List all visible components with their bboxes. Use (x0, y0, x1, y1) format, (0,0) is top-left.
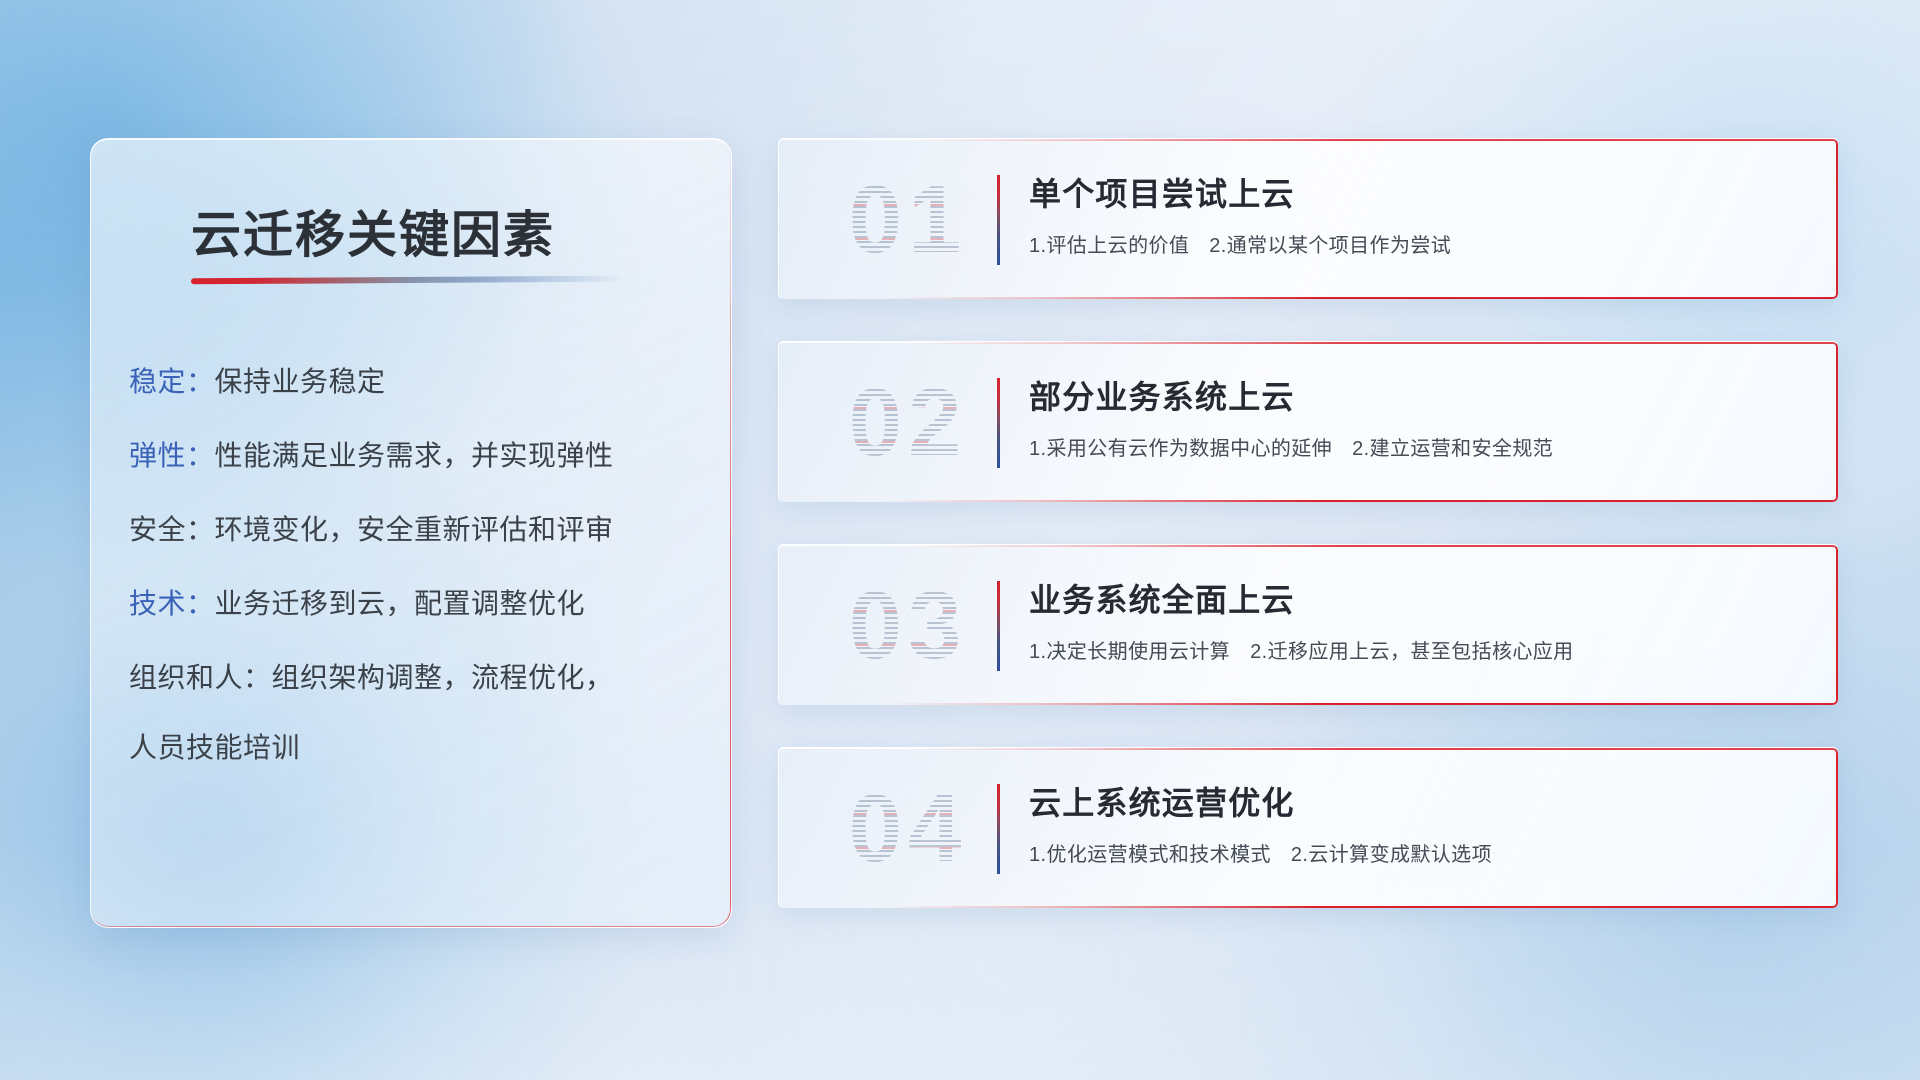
step-card-03[interactable]: 03 03 业务系统全面上云 1.决定长期使用云计算2.迁移应用上云，甚至包括核… (778, 544, 1838, 705)
step-divider-accent (997, 784, 1000, 874)
list-item-value: 性能满足业务需求，并实现弹性 (215, 440, 614, 471)
step-body: 部分业务系统上云 1.采用公有云作为数据中心的延伸2.建立运营和安全规范 (1029, 374, 1808, 464)
step-title: 云上系统运营优化 (1029, 780, 1808, 826)
step-title: 单个项目尝试上云 (1029, 171, 1808, 217)
list-item-label: 组织和人： (129, 662, 272, 693)
step-body: 单个项目尝试上云 1.评估上云的价值2.通常以某个项目作为尝试 (1029, 171, 1808, 261)
step-description: 1.优化运营模式和技术模式2.云计算变成默认选项 (1029, 840, 1808, 870)
page-title: 云迁移关键因素 (191, 195, 555, 267)
list-item: 弹性：性能满足业务需求，并实现弹性 (129, 419, 705, 493)
step-description-part-1: 1.决定长期使用云计算 (1029, 641, 1230, 663)
step-title: 业务系统全面上云 (1029, 577, 1808, 623)
list-item: 安全：环境变化，安全重新评估和评审 (129, 493, 705, 567)
list-item-value: 业务迁移到云，配置调整优化 (215, 588, 586, 619)
step-number-glow: 04 (813, 770, 1003, 888)
step-number-glow: 02 (813, 364, 1003, 482)
key-factors-card: 云迁移关键因素 稳定：保持业务稳定 弹性：性能满足业务需求，并实现弹性 安全：环… (90, 138, 732, 928)
list-item: 组织和人：组织架构调整，流程优化， (129, 641, 705, 715)
step-description: 1.采用公有云作为数据中心的延伸2.建立运营和安全规范 (1029, 434, 1808, 464)
list-item-label: 稳定： (129, 366, 215, 397)
step-divider-accent (997, 581, 1000, 671)
list-item-label: 安全： (129, 514, 215, 545)
list-item-label: 技术： (129, 588, 215, 619)
step-description-part-1: 1.评估上云的价值 (1029, 235, 1189, 257)
step-card-02[interactable]: 02 02 部分业务系统上云 1.采用公有云作为数据中心的延伸2.建立运营和安全… (778, 341, 1838, 502)
step-number-glow: 03 (813, 567, 1003, 685)
list-item-value: 环境变化，安全重新评估和评审 (215, 514, 614, 545)
step-description-part-2: 2.迁移应用上云，甚至包括核心应用 (1250, 641, 1573, 663)
list-item: 技术：业务迁移到云，配置调整优化 (129, 567, 705, 641)
list-item: 人员技能培训 (129, 711, 705, 785)
step-body: 业务系统全面上云 1.决定长期使用云计算2.迁移应用上云，甚至包括核心应用 (1029, 577, 1808, 667)
step-description-part-2: 2.云计算变成默认选项 (1291, 844, 1492, 866)
step-title: 部分业务系统上云 (1029, 374, 1808, 420)
step-description-part-2: 2.通常以某个项目作为尝试 (1209, 235, 1451, 257)
step-divider-accent (997, 378, 1000, 468)
step-body: 云上系统运营优化 1.优化运营模式和技术模式2.云计算变成默认选项 (1029, 780, 1808, 870)
step-description: 1.评估上云的价值2.通常以某个项目作为尝试 (1029, 231, 1808, 261)
step-divider-accent (997, 175, 1000, 265)
migration-steps-list: 01 01 单个项目尝试上云 1.评估上云的价值2.通常以某个项目作为尝试 02… (778, 138, 1838, 950)
step-card-01[interactable]: 01 01 单个项目尝试上云 1.评估上云的价值2.通常以某个项目作为尝试 (778, 138, 1838, 299)
list-item-value: 人员技能培训 (129, 732, 300, 763)
step-card-04[interactable]: 04 04 云上系统运营优化 1.优化运营模式和技术模式2.云计算变成默认选项 (778, 747, 1838, 908)
step-description-part-2: 2.建立运营和安全规范 (1352, 438, 1553, 460)
list-item-value: 保持业务稳定 (215, 366, 386, 397)
step-description-part-1: 1.优化运营模式和技术模式 (1029, 844, 1271, 866)
title-underline-accent (191, 276, 621, 285)
list-item-value: 组织架构调整，流程优化， (272, 662, 614, 693)
list-item-label: 弹性： (129, 440, 215, 471)
list-item: 稳定：保持业务稳定 (129, 345, 705, 419)
step-description: 1.决定长期使用云计算2.迁移应用上云，甚至包括核心应用 (1029, 637, 1808, 667)
slide-canvas: 云迁移关键因素 稳定：保持业务稳定 弹性：性能满足业务需求，并实现弹性 安全：环… (0, 0, 1920, 1080)
step-number-glow: 01 (813, 161, 1003, 279)
key-factors-list: 稳定：保持业务稳定 弹性：性能满足业务需求，并实现弹性 安全：环境变化，安全重新… (129, 345, 705, 785)
step-description-part-1: 1.采用公有云作为数据中心的延伸 (1029, 438, 1332, 460)
